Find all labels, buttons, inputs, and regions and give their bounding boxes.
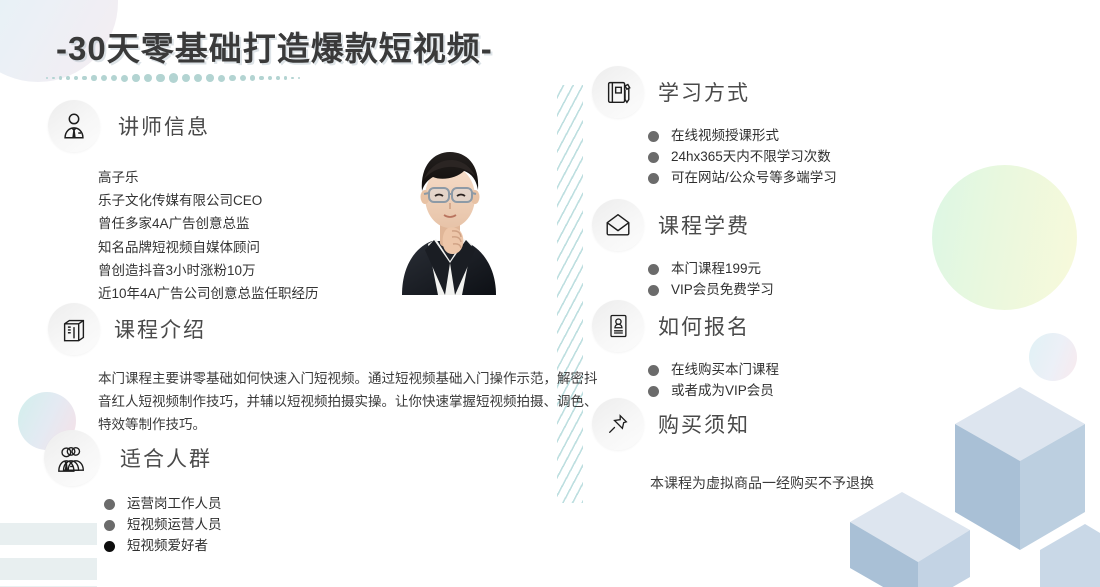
section-purchase-notice-header: 购买须知: [592, 398, 874, 450]
title-rule-dot: [111, 75, 118, 82]
list-item-label: 本门课程199元: [671, 259, 761, 280]
title-rule-dot: [59, 76, 62, 79]
instructor-detail-line: 曾任多家4A广告创意总监: [98, 212, 319, 235]
section-instructor-header: 讲师信息: [48, 100, 319, 152]
decor-blob-green-right: [932, 165, 1077, 310]
title-rule-dot: [259, 76, 264, 81]
signup-bullet-list: 在线购买本门课程或者成为VIP会员: [648, 360, 779, 402]
section-purchase-notice: 购买须知 本课程为虚拟商品一经购买不予退换: [592, 398, 874, 494]
title-rule-dot: [206, 74, 214, 82]
section-instructor: 讲师信息 高子乐乐子文化传媒有限公司CEO曾任多家4A广告创意总监知名品牌短视频…: [48, 100, 319, 305]
decor-bar-2: [0, 558, 97, 580]
instructor-detail-line: 知名品牌短视频自媒体顾问: [98, 236, 319, 259]
section-learning-method: 学习方式 在线视频授课形式24hx365天内不限学习次数可在网站/公众号等多端学…: [592, 66, 837, 189]
list-item-label: 在线购买本门课程: [671, 360, 779, 381]
title-rule-dot: [144, 74, 152, 82]
title-rule-dot: [276, 76, 280, 80]
bullet-dot-icon: [648, 285, 659, 296]
list-item: 24hx365天内不限学习次数: [648, 147, 837, 168]
title-rule-dot: [91, 75, 96, 80]
title-rule-dot: [268, 76, 272, 80]
title-rule-dot: [182, 74, 191, 83]
title-rule-dot: [229, 75, 236, 82]
bullet-dot-icon: [648, 152, 659, 163]
bullet-dot-icon: [648, 386, 659, 397]
list-item: 运营岗工作人员: [104, 494, 222, 515]
section-audience-title: 适合人群: [120, 443, 212, 473]
audience-bullet-list: 运营岗工作人员短视频运营人员短视频爱好者: [104, 494, 222, 557]
section-audience: 适合人群 运营岗工作人员短视频运营人员短视频爱好者: [44, 430, 222, 557]
title-rule-dot: [194, 74, 202, 82]
slide-canvas: -30天零基础打造爆款短视频- 讲师信息 高子乐乐子文化传媒有限公司CEO曾任多…: [0, 0, 1100, 587]
section-instructor-title: 讲师信息: [118, 111, 210, 141]
instructor-detail-list: 高子乐乐子文化传媒有限公司CEO曾任多家4A广告创意总监知名品牌短视频自媒体顾问…: [98, 166, 319, 305]
id-card-icon: [592, 300, 644, 352]
section-audience-header: 适合人群: [44, 430, 222, 486]
section-learning-method-header: 学习方式: [592, 66, 837, 118]
title-rule-dot: [218, 75, 225, 82]
title-rule-dot: [298, 77, 300, 79]
bullet-dot-icon: [648, 365, 659, 376]
books-icon: [48, 303, 100, 355]
section-learning-method-title: 学习方式: [658, 77, 750, 107]
course-intro-paragraph: 本门课程主要讲零基础如何快速入门短视频。通过短视频基础入门操作示范，解密抖音红人…: [98, 367, 598, 437]
instructor-detail-line: 高子乐: [98, 166, 319, 189]
list-item-label: 可在网站/公众号等多端学习: [671, 168, 837, 189]
section-signup: 如何报名 在线购买本门课程或者成为VIP会员: [592, 300, 779, 402]
notebook-pencil-icon: [592, 66, 644, 118]
list-item: 短视频爱好者: [104, 536, 222, 557]
instructor-detail-line: 曾创造抖音3小时涨粉10万: [98, 259, 319, 282]
list-item: 本门课程199元: [648, 259, 774, 280]
section-signup-title: 如何报名: [658, 311, 750, 341]
instructor-portrait-photo: [388, 127, 512, 295]
title-rule-dot: [132, 74, 140, 82]
list-item-label: VIP会员免费学习: [671, 280, 774, 301]
section-purchase-notice-title: 购买须知: [658, 409, 750, 439]
decor-isometric-cubes: [840, 372, 1100, 587]
bullet-dot-icon: [648, 131, 659, 142]
list-item-label: 短视频运营人员: [127, 515, 222, 536]
title-rule-dot: [101, 75, 107, 81]
title-rule-dot: [250, 75, 255, 80]
bullet-dot-icon: [104, 499, 115, 510]
tuition-bullet-list: 本门课程199元VIP会员免费学习: [648, 259, 774, 301]
section-tuition: 课程学费 本门课程199元VIP会员免费学习: [592, 199, 774, 301]
list-item-label: 短视频爱好者: [127, 536, 208, 557]
list-item: 在线视频授课形式: [648, 126, 837, 147]
person-tie-icon: [48, 100, 100, 152]
instructor-detail-line: 乐子文化传媒有限公司CEO: [98, 189, 319, 212]
title-rule-dot: [156, 74, 165, 83]
title-rule-dot: [82, 76, 87, 81]
title-dotted-rule: [46, 72, 300, 84]
learning-method-bullet-list: 在线视频授课形式24hx365天内不限学习次数可在网站/公众号等多端学习: [648, 126, 837, 189]
bullet-dot-icon: [104, 520, 115, 531]
bullet-dot-icon: [648, 173, 659, 184]
title-rule-dot: [121, 75, 128, 82]
list-item: 在线购买本门课程: [648, 360, 779, 381]
title-rule-dot: [66, 76, 70, 80]
title-rule-dot: [46, 77, 48, 79]
title-rule-dot: [291, 77, 294, 80]
envelope-icon: [592, 199, 644, 251]
bullet-dot-icon: [648, 264, 659, 275]
title-rule-dot: [240, 75, 246, 81]
title-rule-dot: [169, 73, 178, 82]
section-tuition-title: 课程学费: [658, 210, 750, 240]
list-item: 可在网站/公众号等多端学习: [648, 168, 837, 189]
purchase-notice-paragraph: 本课程为虚拟商品一经购买不予退换: [650, 472, 874, 494]
bullet-dot-icon: [104, 541, 115, 552]
page-title: -30天零基础打造爆款短视频-: [56, 22, 493, 70]
people-group-icon: [44, 430, 100, 486]
column-dashed-divider: [557, 85, 583, 503]
section-course-intro: 课程介绍 本门课程主要讲零基础如何快速入门短视频。通过短视频基础入门操作示范，解…: [48, 303, 598, 437]
list-item: 短视频运营人员: [104, 515, 222, 536]
list-item-label: 运营岗工作人员: [127, 494, 222, 515]
title-rule-dot: [284, 76, 287, 79]
section-course-intro-header: 课程介绍: [48, 303, 598, 355]
section-signup-header: 如何报名: [592, 300, 779, 352]
instructor-detail-line: 近10年4A广告公司创意总监任职经历: [98, 282, 319, 305]
list-item: VIP会员免费学习: [648, 280, 774, 301]
title-rule-dot: [74, 76, 78, 80]
list-item-label: 在线视频授课形式: [671, 126, 779, 147]
section-course-intro-title: 课程介绍: [114, 314, 206, 344]
title-rule-dot: [52, 77, 55, 80]
list-item-label: 24hx365天内不限学习次数: [671, 147, 831, 168]
section-tuition-header: 课程学费: [592, 199, 774, 251]
pushpin-icon: [592, 398, 644, 450]
